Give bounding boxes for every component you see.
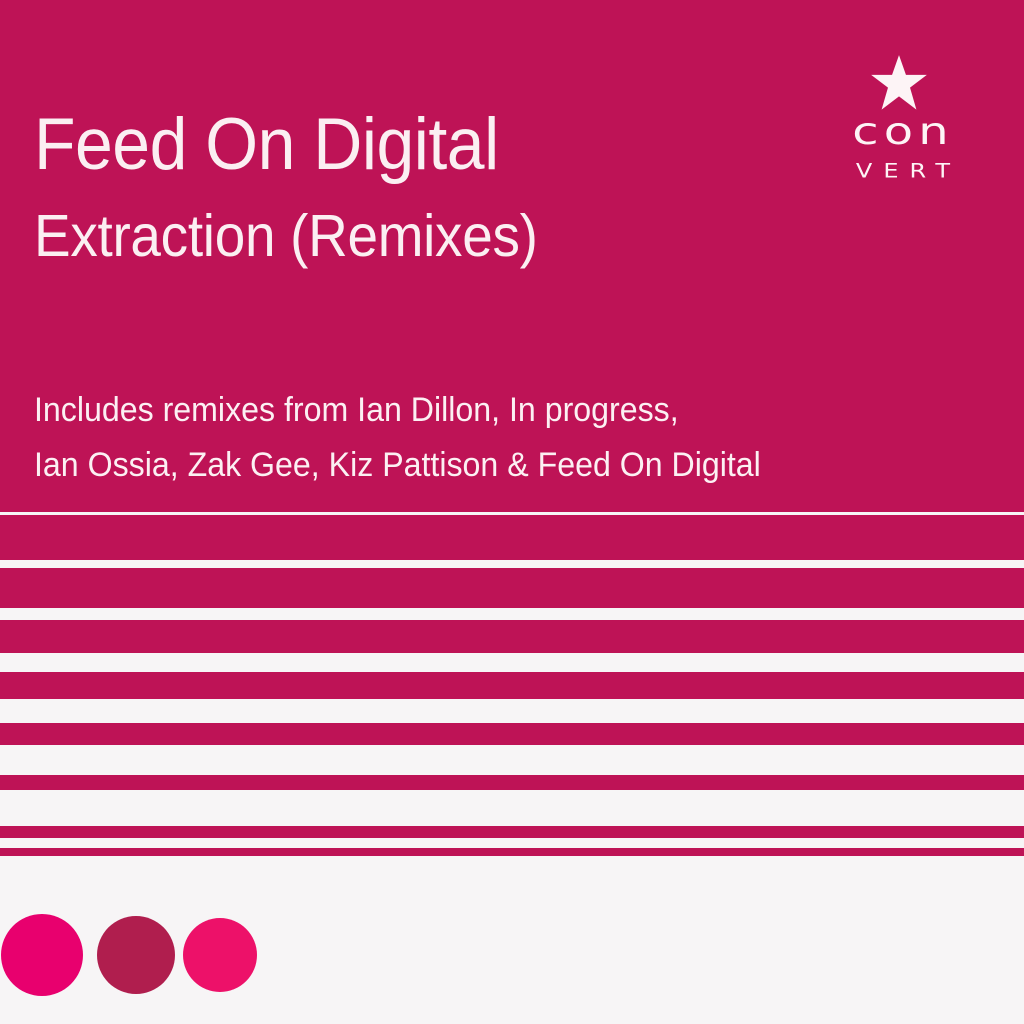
- stripe-8: [0, 826, 1024, 838]
- stripe-1: [0, 503, 1024, 512]
- stripe-3: [0, 568, 1024, 608]
- label-logo-con: con: [816, 113, 989, 151]
- stripe-6: [0, 723, 1024, 745]
- stripe-5: [0, 672, 1024, 699]
- label-logo: con VERT: [818, 55, 988, 195]
- credits-block: Includes remixes from Ian Dillon, In pro…: [34, 383, 761, 493]
- album-cover: Feed On Digital Extraction (Remixes) Inc…: [0, 0, 1024, 1024]
- dot-1: [1, 914, 83, 996]
- stripe-7: [0, 775, 1024, 790]
- credits-line-1: Includes remixes from Ian Dillon, In pro…: [34, 383, 761, 438]
- credits-line-2: Ian Ossia, Zak Gee, Kiz Pattison & Feed …: [34, 438, 761, 493]
- dot-3: [183, 918, 257, 992]
- star-icon: [870, 55, 928, 111]
- dot-2: [97, 916, 175, 994]
- stripe-9: [0, 848, 1024, 856]
- release-title: Extraction (Remixes): [34, 207, 538, 266]
- stripe-2: [0, 515, 1024, 560]
- label-logo-vert: VERT: [818, 161, 988, 181]
- stripe-4: [0, 620, 1024, 653]
- artist-name: Feed On Digital: [34, 108, 499, 181]
